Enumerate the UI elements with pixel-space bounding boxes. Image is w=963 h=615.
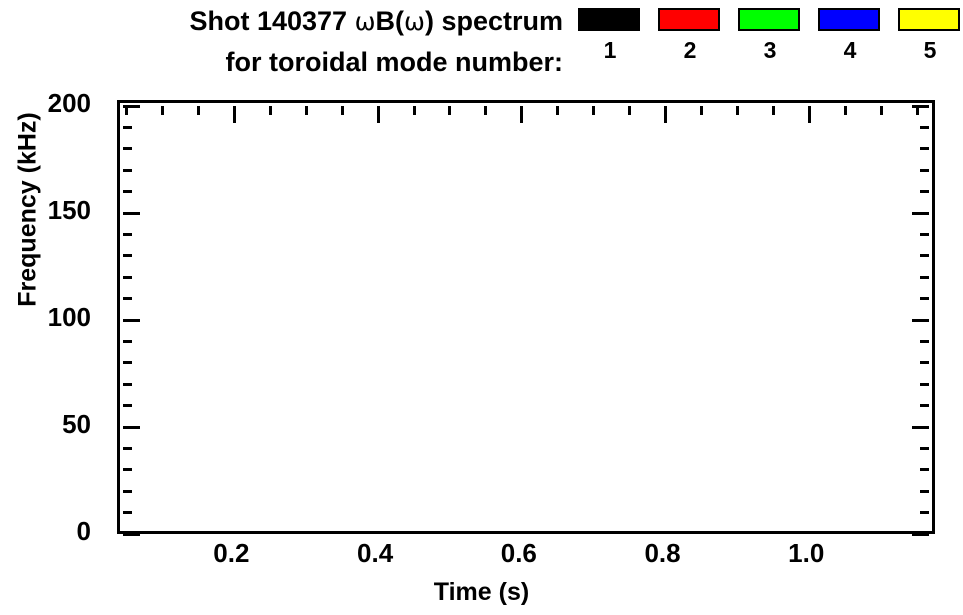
y-tick-20	[123, 490, 132, 493]
y-tick-180	[123, 147, 132, 150]
title-spectrum-text: ) spectrum	[425, 6, 563, 36]
y-tick-right-80	[920, 361, 929, 364]
y-tick-60	[123, 404, 132, 407]
x-tick-top-0.55	[484, 106, 487, 115]
y-tick-right-90	[920, 340, 929, 343]
y-tick-130	[123, 254, 132, 257]
legend: 12345	[575, 0, 963, 92]
y-tick-right-70	[920, 383, 929, 386]
legend-swatch-5	[898, 8, 960, 31]
omega-symbol-2: ω	[404, 7, 425, 36]
y-tick-label-50: 50	[62, 411, 91, 437]
x-tick-top-0.8	[664, 106, 667, 123]
x-tick-label-0.4: 0.4	[335, 540, 415, 566]
legend-label-2: 2	[658, 38, 722, 62]
y-tick-120	[123, 276, 132, 279]
y-tick-10	[123, 511, 132, 514]
y-tick-0	[123, 533, 140, 536]
y-tick-right-0	[912, 533, 929, 536]
y-tick-right-190	[920, 126, 929, 129]
y-tick-right-150	[912, 212, 929, 215]
y-tick-70	[123, 383, 132, 386]
y-tick-30	[123, 468, 132, 471]
y-tick-right-100	[912, 319, 929, 322]
x-tick-top-0.25	[269, 106, 272, 115]
omega-symbol-1: ω	[355, 7, 376, 36]
plot-area	[117, 100, 935, 534]
y-tick-140	[123, 233, 132, 236]
x-tick-top-0.2	[233, 106, 236, 123]
y-axis-label: Frequency (kHz)	[14, 90, 43, 330]
x-tick-top-0.65	[556, 106, 559, 115]
x-tick-top-0.85	[700, 106, 703, 115]
y-tick-right-130	[920, 254, 929, 257]
legend-label-3: 3	[738, 38, 802, 62]
legend-label-5: 5	[898, 38, 962, 62]
legend-swatch-3	[738, 8, 800, 31]
y-tick-right-60	[920, 404, 929, 407]
y-tick-right-20	[920, 490, 929, 493]
x-tick-top-0.45	[413, 106, 416, 115]
legend-swatch-1	[578, 8, 640, 31]
y-tick-right-110	[920, 297, 929, 300]
title-b-open: B(	[376, 6, 405, 36]
y-tick-right-160	[920, 190, 929, 193]
legend-swatch-4	[818, 8, 880, 31]
x-tick-top-0.95	[772, 106, 775, 115]
legend-item-1: 1	[578, 8, 642, 62]
legend-item-4: 4	[818, 8, 882, 62]
y-tick-label-100: 100	[48, 304, 91, 330]
y-tick-160	[123, 190, 132, 193]
spectrogram-figure: Shot 140377 ωB(ω) spectrum for toroidal …	[0, 0, 963, 615]
title-shot-text: Shot 140377	[189, 6, 354, 36]
x-tick-top-1	[808, 106, 811, 123]
x-tick-top-0.15	[197, 106, 200, 115]
legend-item-5: 5	[898, 8, 962, 62]
y-tick-50	[123, 426, 140, 429]
y-tick-90	[123, 340, 132, 343]
y-tick-right-140	[920, 233, 929, 236]
legend-label-4: 4	[818, 38, 882, 62]
x-tick-top-1.15	[916, 106, 919, 115]
x-tick-top-0.6	[520, 106, 523, 123]
y-tick-right-170	[920, 169, 929, 172]
x-tick-label-0.6: 0.6	[479, 540, 559, 566]
x-tick-top-0.75	[628, 106, 631, 115]
y-tick-80	[123, 361, 132, 364]
y-tick-150	[123, 212, 140, 215]
x-tick-top-0.9	[736, 106, 739, 115]
y-tick-right-50	[912, 426, 929, 429]
y-tick-190	[123, 126, 132, 129]
x-tick-label-1: 1.0	[766, 540, 846, 566]
x-tick-label-0.8: 0.8	[623, 540, 703, 566]
y-tick-label-200: 200	[48, 90, 91, 116]
y-tick-40	[123, 447, 132, 450]
y-tick-label-150: 150	[48, 197, 91, 223]
x-tick-top-0.4	[377, 106, 380, 123]
x-axis-tick-labels: 0.20.40.60.81.0	[0, 540, 963, 574]
y-tick-right-180	[920, 147, 929, 150]
legend-label-1: 1	[578, 38, 642, 62]
x-axis-label: Time (s)	[0, 578, 963, 607]
x-tick-top-0.05	[125, 106, 128, 115]
legend-item-3: 3	[738, 8, 802, 62]
y-tick-170	[123, 169, 132, 172]
legend-item-2: 2	[658, 8, 722, 62]
y-tick-right-30	[920, 468, 929, 471]
plot-frame	[117, 100, 935, 534]
x-tick-label-0.2: 0.2	[191, 540, 271, 566]
x-tick-top-1.05	[844, 106, 847, 115]
x-tick-top-1.1	[880, 106, 883, 115]
page-subtitle: for toroidal mode number:	[226, 47, 564, 77]
figure-title-block: Shot 140377 ωB(ω) spectrum for toroidal …	[0, 0, 575, 92]
y-tick-right-10	[920, 511, 929, 514]
x-tick-top-0.35	[341, 106, 344, 115]
y-tick-right-40	[920, 447, 929, 450]
y-tick-110	[123, 297, 132, 300]
x-tick-top-0.5	[448, 106, 451, 115]
x-tick-top-0.7	[592, 106, 595, 115]
x-tick-top-0.1	[161, 106, 164, 115]
x-tick-top-0.3	[305, 106, 308, 115]
page-title: Shot 140377 ωB(ω) spectrum	[189, 6, 563, 37]
y-tick-right-120	[920, 276, 929, 279]
legend-swatch-2	[658, 8, 720, 31]
y-tick-100	[123, 319, 140, 322]
